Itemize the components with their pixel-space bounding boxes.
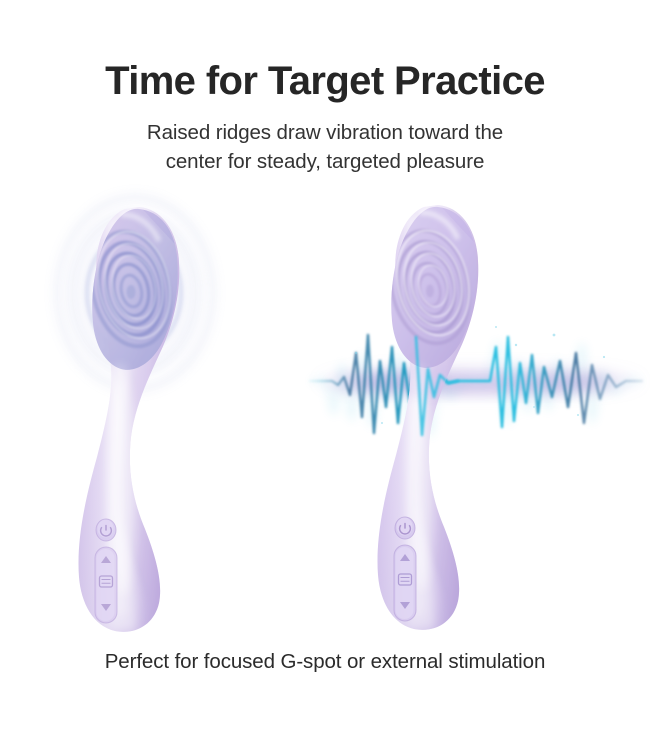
caption: Perfect for focused G-spot or external s… [0,648,650,676]
product-right-panel [320,185,640,645]
page-title: Time for Target Practice [0,57,650,105]
power-button [96,519,116,541]
subtitle-line-1: Raised ridges draw vibration toward the [75,118,575,147]
control-panel [394,517,416,621]
power-button [395,517,415,539]
subtitle-line-2: center for steady, targeted pleasure [75,147,575,176]
control-panel [95,519,117,623]
product-left-illustration [35,185,325,645]
product-right-illustration [320,185,640,645]
mode-panel [95,547,117,623]
subtitle: Raised ridges draw vibration toward the … [75,118,575,176]
promo-graphic: Time for Target Practice Raised ridges d… [0,0,650,750]
product-left-panel [35,185,325,645]
mode-panel [394,545,416,621]
